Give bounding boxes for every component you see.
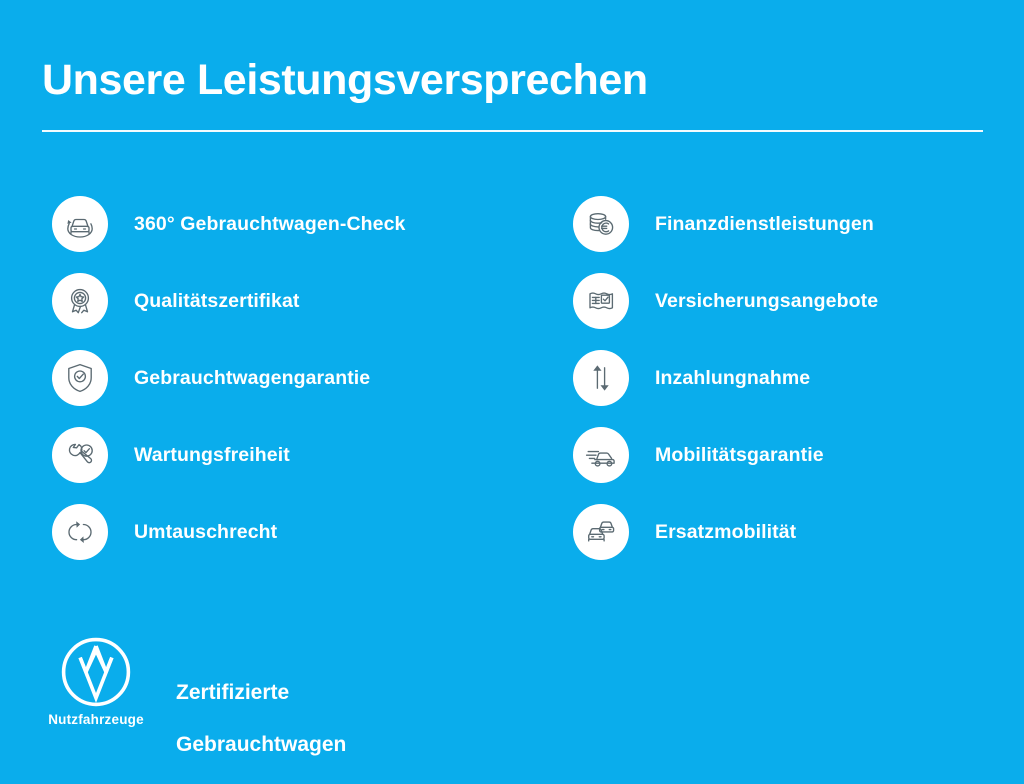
promises-left-column: 360° Gebrauchtwagen-Check Qualitätszerti…: [52, 196, 522, 560]
list-item-label: Wartungsfreiheit: [134, 444, 290, 467]
list-item: Qualitätszertifikat: [52, 273, 522, 329]
list-item-label: Inzahlungnahme: [655, 367, 810, 390]
car-speed-icon: [573, 427, 629, 483]
list-item-label: 360° Gebrauchtwagen-Check: [134, 213, 405, 236]
list-item: Mobilitätsgarantie: [573, 427, 1013, 483]
list-item: Finanzdienstleistungen: [573, 196, 1013, 252]
promises-slide: Unsere Leistungsversprechen 360° Ge: [0, 0, 1024, 768]
promises-right-column: Finanzdienstleistungen Versicherungsange…: [573, 196, 1013, 560]
list-item: 360° Gebrauchtwagen-Check: [52, 196, 522, 252]
list-item: Ersatzmobilität: [573, 504, 1013, 560]
list-item-label: Finanzdienstleistungen: [655, 213, 874, 236]
arrows-up-down-icon: [573, 350, 629, 406]
list-item-label: Gebrauchtwagengarantie: [134, 367, 370, 390]
car-360-check-icon: [52, 196, 108, 252]
exchange-arrows-icon: [52, 504, 108, 560]
coins-euro-icon: [573, 196, 629, 252]
list-item-label: Umtauschrecht: [134, 521, 277, 544]
list-item: Umtauschrecht: [52, 504, 522, 560]
wrench-check-icon: [52, 427, 108, 483]
shield-check-icon: [52, 350, 108, 406]
two-cars-icon: [573, 504, 629, 560]
award-rosette-icon: [52, 273, 108, 329]
brand-claim: Zertifizierte Gebrauchtwagen: [176, 654, 346, 784]
document-check-icon: [573, 273, 629, 329]
list-item: Versicherungsangebote: [573, 273, 1013, 329]
brand-claim-line1: Zertifizierte: [176, 680, 346, 706]
volkswagen-logo: [60, 636, 132, 708]
list-item-label: Ersatzmobilität: [655, 521, 796, 544]
brand-claim-line2: Gebrauchtwagen: [176, 732, 346, 758]
list-item: Inzahlungnahme: [573, 350, 1013, 406]
list-item-label: Qualitätszertifikat: [134, 290, 300, 313]
list-item: Gebrauchtwagengarantie: [52, 350, 522, 406]
page-title: Unsere Leistungsversprechen: [42, 54, 648, 106]
title-divider: [42, 130, 983, 132]
list-item-label: Mobilitätsgarantie: [655, 444, 824, 467]
brand-subtitle: Nutzfahrzeuge: [40, 712, 152, 727]
brand-lockup: Nutzfahrzeuge Zertifizierte Gebrauchtwag…: [40, 636, 346, 784]
list-item-label: Versicherungsangebote: [655, 290, 878, 313]
brand-mark: Nutzfahrzeuge: [40, 636, 152, 727]
list-item: Wartungsfreiheit: [52, 427, 522, 483]
